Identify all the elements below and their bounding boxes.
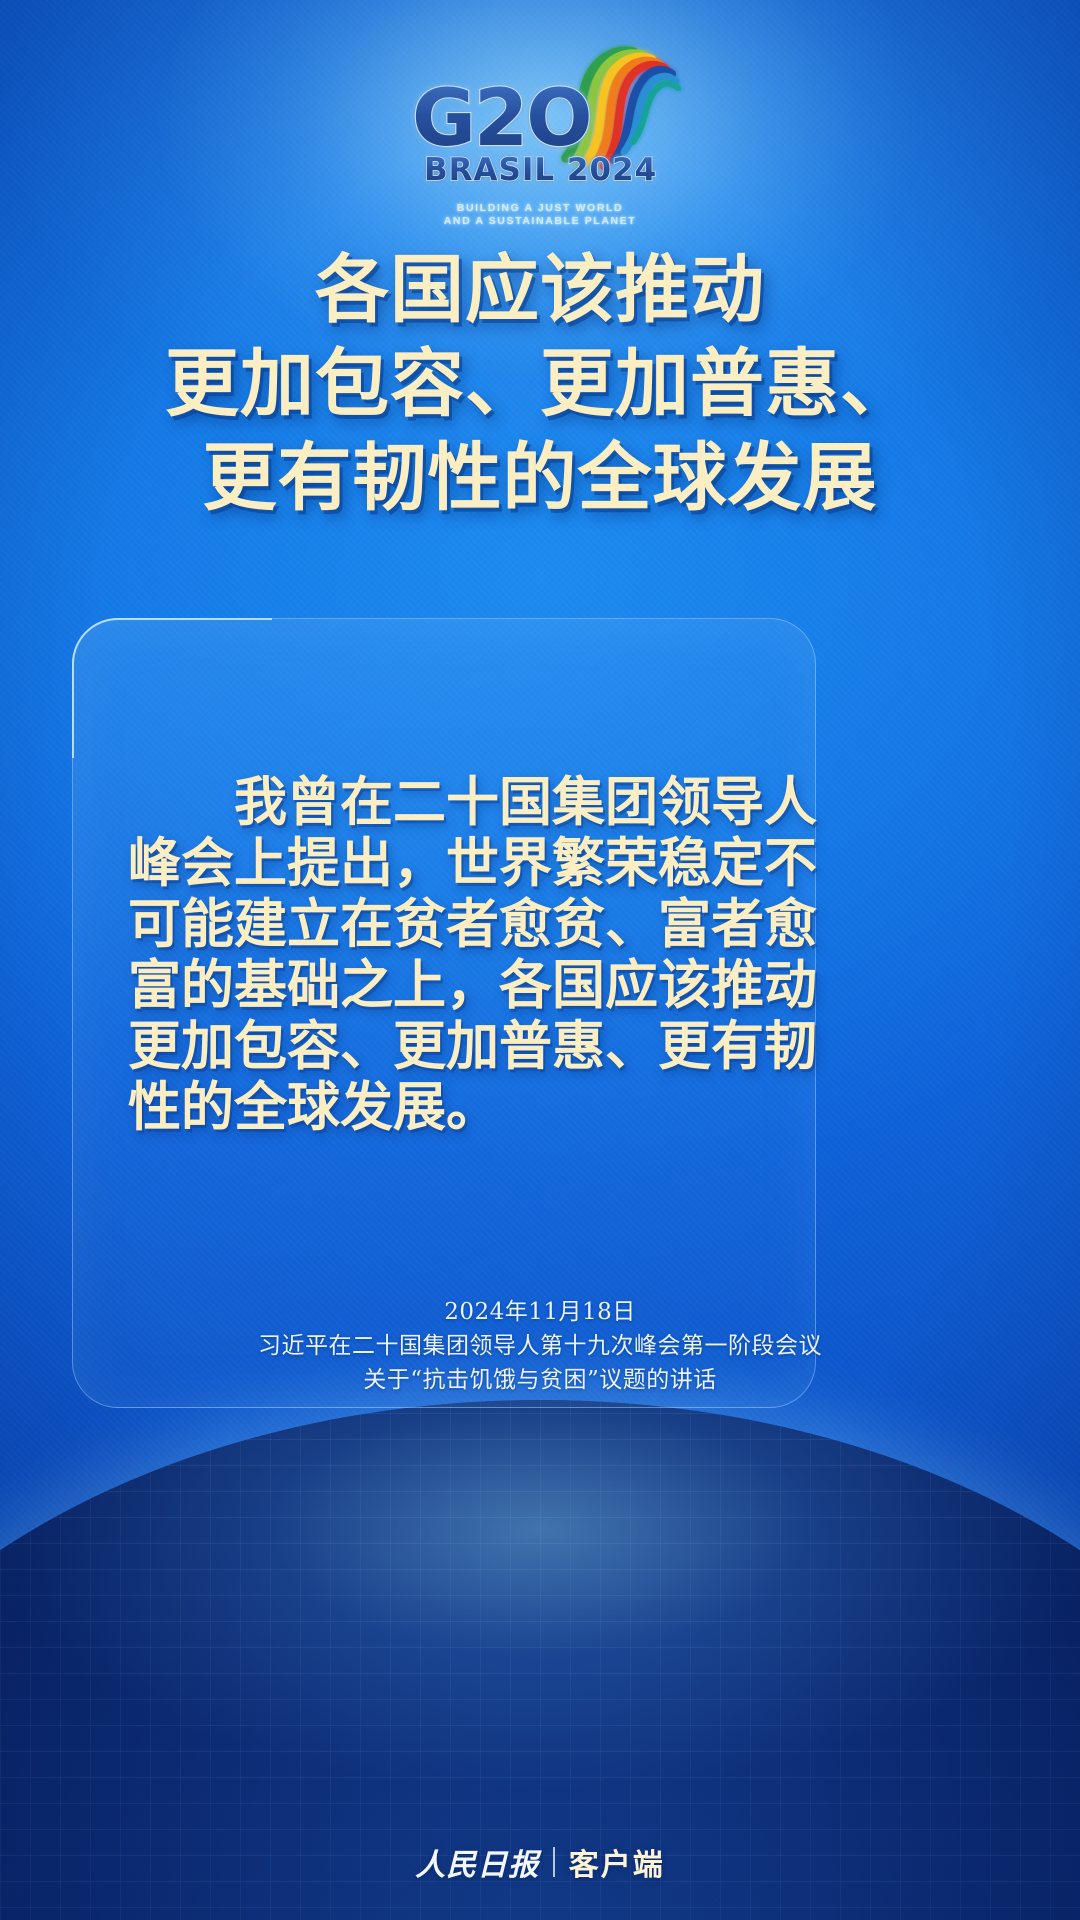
g20-tagline-line2: AND A SUSTAINABLE PLANET bbox=[444, 215, 637, 227]
poster-content: G2O BRASIL 2024 BUILDING A JUST WORLD AN… bbox=[0, 0, 1080, 1920]
quote-line-1: 我曾在二十国集团领导人 bbox=[128, 772, 952, 833]
publisher-product: 客户端 bbox=[569, 1840, 665, 1884]
g20-logo: G2O BRASIL 2024 BUILDING A JUST WORLD AN… bbox=[0, 40, 1080, 228]
brand-divider bbox=[553, 1847, 555, 1877]
g20-logo-mark: G2O BRASIL 2024 bbox=[390, 40, 690, 200]
publisher-name: 人民日报 bbox=[415, 1840, 539, 1884]
quote-line-3: 可能建立在贫者愈贫、富者愈 bbox=[128, 894, 952, 955]
attribution: 2024年11月18日 习近平在二十国集团领导人第十九次峰会第一阶段会议 关于“… bbox=[128, 1295, 952, 1397]
quote-line-2: 峰会上提出，世界繁荣稳定不 bbox=[128, 833, 952, 894]
attribution-date: 2024年11月18日 bbox=[128, 1295, 952, 1329]
attribution-line-1: 习近平在二十国集团领导人第十九次峰会第一阶段会议 bbox=[128, 1329, 952, 1363]
quote-card-corner-accent bbox=[72, 618, 272, 758]
g20-tagline-line1: BUILDING A JUST WORLD bbox=[457, 202, 623, 214]
svg-text:G2O: G2O bbox=[412, 74, 591, 164]
headline-line-3: 更有韧性的全球发展 bbox=[0, 431, 1080, 525]
headline-line-2: 更加包容、更加普惠、 bbox=[0, 337, 1080, 431]
publisher-brand: 人民日报 客户端 bbox=[0, 1840, 1080, 1884]
quote-text: 我曾在二十国集团领导人 峰会上提出，世界繁荣稳定不 可能建立在贫者愈贫、富者愈 … bbox=[128, 772, 952, 1138]
quote-line-4: 富的基础之上，各国应该推动 bbox=[128, 955, 952, 1016]
headline-line-1: 各国应该推动 bbox=[0, 243, 1080, 337]
headline: 各国应该推动 更加包容、更加普惠、 更有韧性的全球发展 bbox=[0, 243, 1080, 525]
attribution-line-2: 关于“抗击饥饿与贫困”议题的讲话 bbox=[128, 1363, 952, 1397]
quote-line-6: 性的全球发展。 bbox=[128, 1077, 952, 1138]
g20-logo-tagline: BUILDING A JUST WORLD AND A SUSTAINABLE … bbox=[444, 202, 637, 228]
svg-text:BRASIL 2024: BRASIL 2024 bbox=[424, 152, 657, 188]
quote-line-5: 更加包容、更加普惠、更有韧 bbox=[128, 1016, 952, 1077]
